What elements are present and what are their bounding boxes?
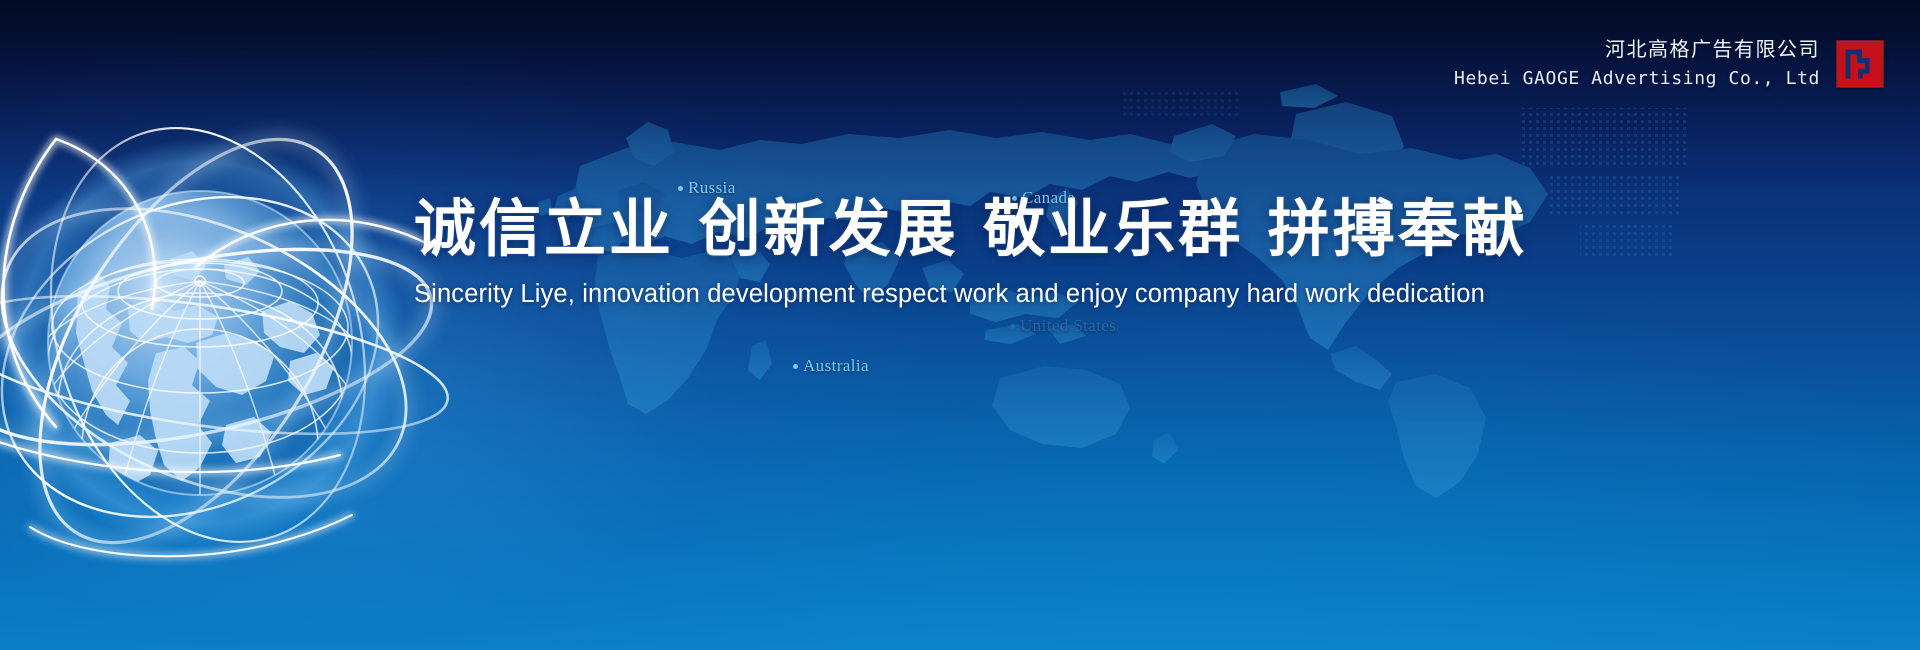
slogan-chinese: 诚信立业 创新发展 敬业乐群 拼搏奉献	[414, 196, 1514, 263]
company-name-cn: 河北高格广告有限公司	[1454, 36, 1820, 64]
slogan-english: Sincerity Liye, innovation development r…	[414, 280, 1514, 309]
globe-graphic	[0, 95, 430, 565]
map-label-united-states: United States	[1010, 316, 1116, 336]
slogan-block: 诚信立业 创新发展 敬业乐群 拼搏奉献 Sincerity Liye, inno…	[414, 196, 1514, 309]
banner-root: Russia Canada China United States Austra…	[0, 0, 1920, 650]
background-glow	[0, 0, 1920, 650]
company-name-block: 河北高格广告有限公司 Hebei GAOGE Advertising Co., …	[1454, 36, 1820, 91]
background-top-shade	[0, 0, 1920, 190]
map-label-australia: Australia	[793, 356, 869, 376]
company-logo-icon	[1836, 40, 1884, 88]
company-header: 河北高格广告有限公司 Hebei GAOGE Advertising Co., …	[1454, 36, 1884, 91]
company-name-en: Hebei GAOGE Advertising Co., Ltd	[1454, 67, 1820, 92]
